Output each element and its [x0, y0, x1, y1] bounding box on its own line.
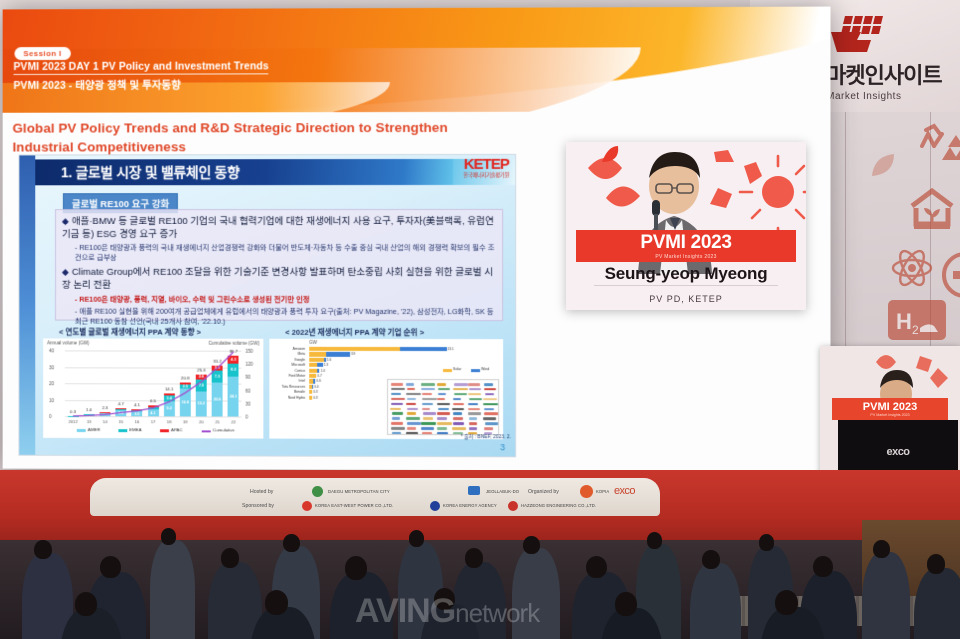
- banner-subtitle: PV Market Insights 2023: [655, 254, 716, 260]
- audience-head: [873, 540, 890, 558]
- lectern-banner: PVMI 2023 PV Market Insights 2023: [832, 398, 948, 420]
- hbar-solar: [309, 358, 324, 362]
- company-logo: [484, 427, 493, 430]
- company-logo: [438, 388, 450, 391]
- hosted-org-2: JEOLLABUK-DO: [486, 489, 519, 494]
- company-logo: [391, 422, 403, 425]
- banner-subtitle: PV Market Insights 2023: [870, 413, 909, 417]
- chart-right-caption: < 2022년 재생에너지 PPA 계약 기업 순위 >: [285, 327, 424, 338]
- speaker-name: Seung-yeop Myeong: [566, 264, 806, 284]
- company-logo: [407, 407, 417, 410]
- hbar-solar: [309, 368, 317, 372]
- company-logo: [422, 393, 432, 396]
- company-logo: [406, 417, 420, 420]
- ketep-logo-subtitle: 한국에너지기술평가원: [463, 172, 509, 179]
- company-logo: [392, 417, 401, 420]
- audience-head: [265, 590, 288, 615]
- plus-circle-icon: [940, 250, 960, 305]
- audience-head: [434, 588, 455, 610]
- audience-head: [813, 556, 833, 577]
- slide-header-swoosh: [3, 7, 831, 113]
- bullet-item: ◆Climate Group에서 RE100 조달을 위한 기술기준 변경사항 …: [62, 266, 496, 293]
- company-logo: [437, 383, 446, 386]
- slide-page-number: 3: [500, 442, 505, 452]
- company-logo: [453, 403, 465, 406]
- banner-title: PVMI 2023: [863, 401, 917, 413]
- company-logo: [437, 427, 446, 430]
- bullet-list: ◆애플·BMW 등 글로벌 RE100 기업의 국내 협력기업에 대한 재생에너…: [55, 209, 503, 321]
- company-logo: [453, 422, 464, 425]
- banner-title: PVMI 2023: [640, 232, 731, 254]
- eco-house-icon: [906, 186, 958, 235]
- company-logo: [407, 398, 416, 401]
- company-logo: [453, 412, 463, 415]
- company-logo: [422, 432, 433, 435]
- sponsor-band: Hosted by DAEGU METROPOLITAN CITY JEOLLA…: [90, 478, 660, 516]
- ppa-company-ranking-chart: GW Amazon13.1Meta3.9Google1.6Microsoft1.…: [269, 339, 503, 439]
- legend-label: AMER: [88, 427, 101, 432]
- audience-head: [702, 550, 720, 569]
- audience-person: [330, 572, 393, 639]
- svg-text:H: H: [896, 309, 912, 334]
- legend-label: APAC: [171, 427, 183, 432]
- company-logo: [392, 432, 402, 435]
- company-logo: [468, 413, 481, 416]
- session-title-en: PVMI 2023 DAY 1 PV Policy and Investment…: [14, 60, 269, 75]
- recycle-icon: [912, 120, 956, 165]
- audience-head: [75, 592, 97, 616]
- h2-fuel-icon: H 2: [886, 298, 948, 347]
- hbar-solar: [309, 395, 312, 399]
- company-logo: [391, 403, 403, 406]
- legend-swatch: [118, 429, 127, 432]
- company-logo: [469, 417, 477, 420]
- audience-person: [862, 552, 910, 639]
- audience-person: [512, 548, 560, 639]
- company-logo: [391, 383, 404, 386]
- company-logo: [468, 408, 480, 411]
- ketep-logo: KETEP 한국에너지기술평가원: [463, 157, 509, 179]
- company-logo: [469, 388, 481, 391]
- company-logo: [407, 388, 415, 391]
- hbar-value-label: 0.3: [313, 395, 333, 399]
- speaker-divider: [594, 285, 778, 286]
- hbar-value-label: 3.9: [351, 352, 371, 356]
- sponsor-org-1: KOREA EAST-WEST POWER CO.,LTD.: [315, 503, 393, 508]
- company-logo: [407, 412, 416, 415]
- company-logo: [407, 422, 422, 425]
- korea-energy-agency-logo-icon: [430, 501, 440, 511]
- company-logo: [469, 422, 477, 425]
- company-logo: [454, 393, 467, 396]
- hbar-solar: [309, 374, 316, 378]
- hbar-value-label: 0.4: [314, 385, 334, 389]
- legend-swatch: [77, 429, 86, 432]
- x-tick: 22: [224, 419, 242, 424]
- hosted-by-label: Hosted by: [250, 489, 273, 495]
- company-logo: [437, 432, 448, 435]
- company-logo: [421, 388, 435, 391]
- company-logo: [437, 417, 447, 420]
- bullet-item: ◆애플·BMW 등 글로벌 RE100 기업의 국내 협력기업에 대한 재생에너…: [62, 215, 496, 242]
- company-logo: [392, 412, 403, 415]
- jeollabuk-logo-icon: [468, 486, 480, 495]
- organizer-2: exco: [614, 485, 635, 497]
- company-logo: [485, 393, 495, 396]
- company-logo: [390, 407, 400, 410]
- company-logo-wall: [387, 379, 499, 435]
- audience-head: [523, 536, 540, 554]
- source-note: * 출처 : BNEF, 2023. 2.: [461, 433, 511, 440]
- legend-swatch: [160, 429, 169, 432]
- bullet-item: - RE100은 태양광과 풍력의 국내 재생에너지 산업경쟁력 강화와 더불어…: [75, 243, 496, 263]
- company-logo: [422, 398, 436, 401]
- kopia-logo-icon: [580, 485, 593, 498]
- audience-person: [690, 563, 741, 639]
- company-logo: [422, 403, 432, 406]
- company-logo: [391, 398, 405, 401]
- audience-head: [775, 590, 798, 615]
- audience-head: [100, 556, 121, 578]
- legend-swatch: [471, 369, 480, 372]
- company-logo: [469, 398, 481, 401]
- legend-swatch: [443, 369, 452, 372]
- company-logo: [421, 422, 436, 425]
- pv-market-insights-logo: [823, 10, 887, 54]
- bullet-item: - RE100은 태양광, 풍력, 지열, 바이오, 수력 및 그린수소로 생성…: [75, 294, 496, 304]
- sponsor-org-3: HAZZEONG ENGINEERING CO.,LTD.: [521, 503, 596, 508]
- svg-text:2: 2: [912, 323, 919, 337]
- audience-head: [586, 556, 607, 578]
- hbar-value-label: 13.1: [448, 347, 468, 351]
- category-label: Ford Motor: [271, 374, 305, 378]
- organizer-1: KOPIA: [596, 489, 609, 494]
- company-logo: [452, 408, 463, 411]
- company-logo: [406, 393, 421, 396]
- hbar-wind: [313, 379, 315, 383]
- hbar-value-label: 0.6: [316, 379, 336, 383]
- category-label: Meta: [271, 352, 305, 356]
- company-logo: [469, 427, 477, 430]
- hbar-wind: [324, 358, 326, 362]
- company-logo: [422, 408, 430, 411]
- company-logo: [437, 403, 450, 406]
- audience-head: [345, 556, 367, 580]
- company-logo: [437, 398, 445, 401]
- company-logo: [423, 412, 436, 415]
- company-logo: [406, 383, 414, 386]
- legend-label: EMEA: [129, 427, 141, 432]
- company-logo: [453, 417, 463, 420]
- speaker-role: PV PD, KETEP: [566, 294, 806, 304]
- ewp-logo-icon: [302, 501, 312, 511]
- session-title-ko: PVMI 2023 - 태양광 정책 및 투자동향: [14, 78, 182, 93]
- hbar-solar: [309, 390, 312, 394]
- company-logo: [391, 393, 400, 396]
- audience-head: [615, 592, 637, 616]
- chart-xlabel: GW: [309, 340, 317, 345]
- exco-logo: exco: [838, 446, 958, 458]
- daegu-logo-icon: [312, 486, 323, 497]
- company-logo: [468, 383, 480, 386]
- company-logo: [423, 417, 433, 420]
- category-label: Tata Resources: [271, 384, 305, 388]
- audience-head: [161, 528, 177, 545]
- audience-person: [914, 568, 960, 639]
- company-logo: [454, 383, 468, 386]
- slide-header-bar: 1. 글로벌 시장 및 밸류체인 동향: [35, 159, 453, 185]
- company-logo: [453, 398, 461, 401]
- company-logo: [483, 403, 497, 406]
- hbar-wind: [400, 347, 446, 351]
- leaf-icon: [868, 150, 898, 185]
- company-logo: [453, 388, 467, 391]
- company-logo: [483, 417, 495, 420]
- category-label: Costco: [271, 368, 305, 372]
- company-logo: [438, 393, 446, 396]
- company-logo: [484, 408, 494, 411]
- hbar-wind: [326, 352, 350, 356]
- hbar-value-label: 1.6: [327, 358, 347, 362]
- category-label: Amazon: [271, 347, 305, 351]
- category-label: Nord Hydro: [271, 395, 305, 399]
- company-logo: [438, 408, 450, 411]
- company-logo: [484, 383, 493, 386]
- slide-left-band: [19, 155, 35, 456]
- hbar-wind: [318, 363, 323, 367]
- legend-label: Wind: [481, 367, 489, 371]
- sponsor-org-2: KOREA ENERGY AGENCY: [443, 503, 497, 508]
- hbar-solar: [309, 347, 400, 351]
- company-logo: [406, 432, 419, 435]
- bullet-item: - 애플 RE100 실현을 위해 200여개 공급업체에게 유럽에서의 태양광…: [75, 307, 496, 327]
- hbar-solar: [309, 352, 326, 356]
- company-logo: [391, 427, 405, 430]
- diamond-bullet-icon: ◆: [62, 267, 69, 277]
- company-logo: [485, 422, 498, 425]
- company-logo: [452, 427, 466, 430]
- audience-head: [759, 534, 775, 551]
- audience-head: [221, 548, 240, 568]
- ketep-logo-wordmark: KETEP: [463, 157, 509, 172]
- chart-left-caption: < 연도별 글로벌 재생에너지 PPA 계약 동향 >: [59, 327, 201, 338]
- conference-photo: 태양광마켓인사이트 PV Market Insights: [0, 0, 960, 639]
- audience-head: [647, 532, 663, 549]
- speaker-card: PVMI 2023 PV Market Insights 2023 Seung-…: [566, 142, 806, 310]
- hbar-wind: [312, 385, 313, 389]
- hbar-value-label: 0.3: [313, 390, 333, 394]
- presentation-slide: 1. 글로벌 시장 및 밸류체인 동향 KETEP 한국에너지기술평가원 글로벌…: [18, 154, 516, 457]
- company-logo: [391, 388, 405, 391]
- company-logo: [468, 393, 482, 396]
- organized-by-label: Organized by: [528, 489, 559, 495]
- company-logo: [484, 413, 498, 416]
- lectern-photo: PVMI 2023 PV Market Insights 2023 exco: [820, 346, 960, 480]
- company-logo: [421, 427, 434, 430]
- audience-head: [927, 554, 946, 574]
- audience-head: [283, 534, 300, 552]
- hosted-org-1: DAEGU METROPOLITAN CITY: [328, 489, 390, 494]
- audience-head: [465, 548, 484, 568]
- talk-title: Global PV Policy Trends and R&D Strategi…: [13, 118, 481, 157]
- hbar-value-label: 1.0: [321, 368, 341, 372]
- legend-swatch: [202, 430, 211, 432]
- company-logo: [437, 422, 452, 425]
- category-label: Google: [271, 358, 305, 362]
- diamond-bullet-icon: ◆: [62, 216, 69, 226]
- hazzeong-logo-icon: [508, 501, 518, 511]
- hbar-value-label: 1.3: [324, 363, 344, 367]
- audience-head: [34, 540, 52, 559]
- category-label: Intel: [271, 379, 305, 383]
- audience-person: [150, 540, 195, 639]
- hbar-solar: [309, 363, 317, 367]
- company-logo: [468, 403, 478, 406]
- slide-header-text: 1. 글로벌 시장 및 밸류체인 동향: [61, 162, 240, 182]
- hbar-wind: [318, 368, 320, 372]
- category-label: Microsoft: [271, 363, 305, 367]
- company-logo: [437, 412, 450, 415]
- company-logo: [406, 403, 416, 406]
- legend-label: Solar: [453, 367, 461, 371]
- company-logo: [484, 398, 498, 401]
- hbar-value-label: 0.7: [318, 374, 338, 378]
- company-logo: [407, 427, 415, 430]
- legend-label: Cumulative: [213, 427, 235, 432]
- audience-head: [409, 530, 425, 547]
- speaker-card-banner: PVMI 2023 PV Market Insights 2023: [576, 230, 796, 262]
- company-logo: [484, 388, 496, 391]
- cumulative-line: [73, 352, 234, 417]
- sponsored-by-label: Sponsored by: [242, 503, 274, 509]
- atom-icon: [890, 248, 934, 293]
- company-logo: [421, 383, 435, 386]
- session-badge: Session I: [14, 47, 70, 60]
- category-label: Bonaile: [271, 390, 305, 394]
- ppa-annual-volume-chart: Annual volume (GW) Cumulative volume (GW…: [43, 338, 263, 438]
